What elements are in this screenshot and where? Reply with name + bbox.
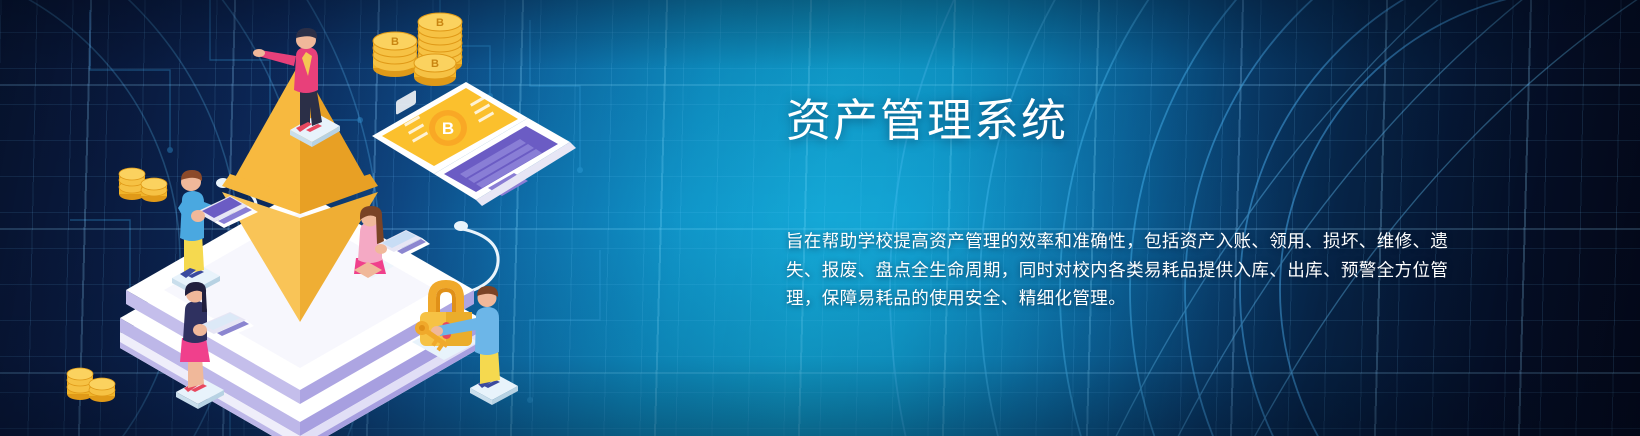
asset-management-banner: B B B (0, 0, 1640, 436)
svg-text:B: B (431, 58, 439, 70)
coin-stack-left (119, 168, 167, 202)
svg-text:B: B (391, 36, 399, 48)
banner-copy: 资产管理系统 旨在帮助学校提高资产管理的效率和准确性，包括资产入账、领用、损坏、… (786, 92, 1486, 313)
coin-stack-bottom (67, 368, 115, 402)
isometric-blockchain-illustration: B B B (60, 0, 580, 436)
coin-stack-top: B B B (373, 13, 462, 86)
page-title: 资产管理系统 (786, 92, 1486, 150)
svg-text:B: B (436, 17, 444, 29)
laptop-bitcoin-screen: B (372, 82, 576, 206)
banner-description: 旨在帮助学校提高资产管理的效率和准确性，包括资产入账、领用、损坏、维修、遗失、报… (786, 227, 1476, 313)
svg-text:B: B (442, 119, 454, 138)
